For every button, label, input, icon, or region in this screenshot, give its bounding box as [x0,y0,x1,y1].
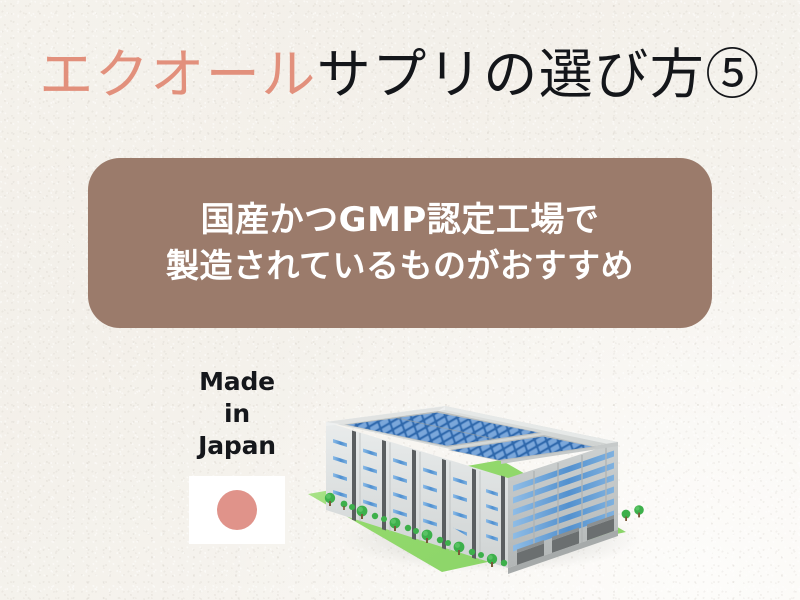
statement-line-1: 国産かつGMP認定工場で [201,200,600,240]
slide-canvas: エクオールサプリの選び方⑤ 国産かつGMP認定工場で 製造されているものがおすす… [0,0,800,600]
japan-flag-sun [217,490,257,530]
page-title-accent: エクオール [39,45,317,105]
page-title-rest: サプリの選び方⑤ [317,45,761,105]
page-title: エクオールサプリの選び方⑤ [0,48,800,102]
statement-panel: 国産かつGMP認定工場で 製造されているものがおすすめ [88,158,712,328]
japan-flag-icon [189,476,285,544]
statement-line-2: 製造されているものがおすすめ [166,247,634,286]
made-in-japan-line-1: Made [189,366,285,398]
made-in-japan-line-2: in [189,398,285,430]
factory-building-icon [296,386,656,586]
made-in-japan-caption: Made in Japan [189,366,285,462]
made-in-japan-line-3: Japan [189,430,285,462]
